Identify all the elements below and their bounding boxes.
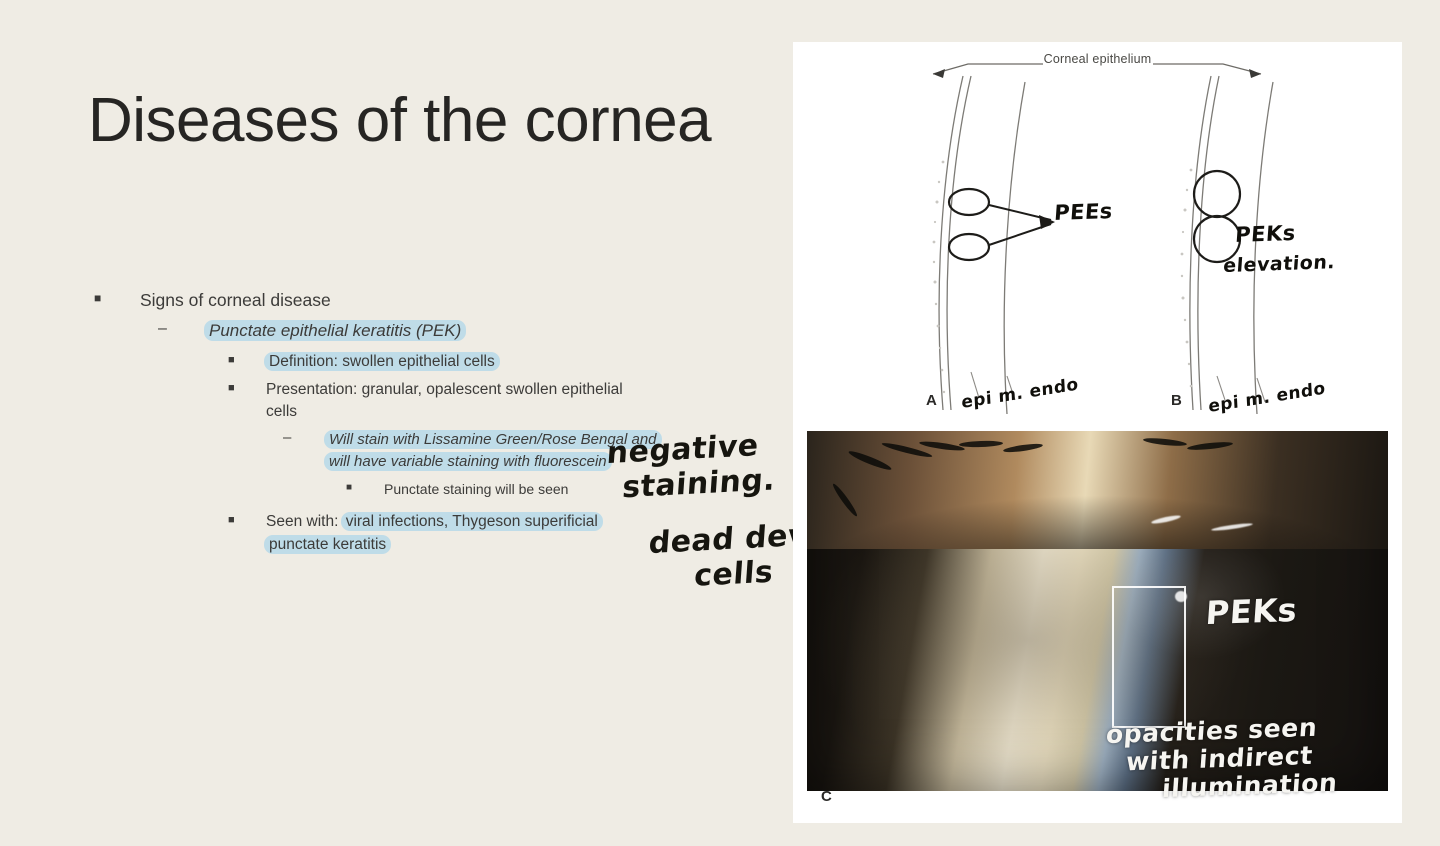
bullet-punctate-epithelial-keratitis: – Punctate epithelial keratitis (PEK) [88,319,648,344]
annotation-line-3: illumination [1161,769,1338,803]
annotation-pees: PEEs [1053,200,1113,225]
pee-lesion-upper [949,189,989,215]
arrow-head-left [933,69,945,78]
slit-lamp-photo-figure: PEKs opacities seen with indirect illumi… [793,425,1402,823]
bullet-text: Presentation: granular, opalescent swoll… [266,379,626,424]
panel-label-b: B [1171,392,1182,409]
bullet-text-highlighted: Definition: swollen epithelial cells [264,352,500,371]
bullet-marker-square: ■ [94,290,101,307]
arrow-head-right [1249,69,1261,78]
bullet-marker-square: ■ [228,513,235,529]
pek-lesion-upper [1194,171,1240,217]
slide: Diseases of the cornea ■ Signs of cornea… [0,0,1440,846]
bullet-presentation: ■ Presentation: granular, opalescent swo… [88,379,626,424]
annotation-line-2: staining. [621,463,776,506]
bullet-definition: ■ Definition: swollen epithelial cells [88,351,648,373]
annotation-opacities: opacities seen with indirect illuminatio… [1101,713,1342,805]
bullet-marker-dash: – [158,317,167,340]
bullet-seen-with: ■ Seen with: viral infections, Thygeson … [88,511,626,556]
bullet-list: ■ Signs of corneal disease – Punctate ep… [88,288,648,561]
annotation-peks: PEKs [1234,222,1296,247]
region-of-interest-box [1112,586,1186,728]
pee-lesion-lower [949,234,989,260]
bullet-will-stain: – Will stain with Lissamine Green/Rose B… [88,429,681,473]
annotation-elevation: elevation. [1223,252,1336,277]
annotation-negative-staining: negative staining. [603,428,779,506]
bullet-marker-square: ■ [228,353,235,369]
corneal-diagram-figure: Corneal epithelium [793,42,1402,425]
bullet-text-lead: Seen with: [266,513,338,530]
panel-label-c: C [821,788,832,805]
slit-lamp-photograph: PEKs opacities seen with indirect illumi… [807,431,1388,791]
bullet-text: Signs of corneal disease [140,288,648,313]
panel-label-a: A [926,392,937,409]
page-title: Diseases of the cornea [88,88,711,153]
annotation-peks-photo: PEKs [1204,593,1298,632]
bullet-signs-of-corneal-disease: ■ Signs of corneal disease [88,288,648,313]
bullet-text-highlighted: Punctate epithelial keratitis (PEK) [204,320,466,341]
diagram-svg [793,42,1402,425]
bullet-marker-square: ■ [346,481,352,496]
bullet-marker-square: ■ [228,381,235,397]
bullet-marker-dash: – [283,427,291,449]
